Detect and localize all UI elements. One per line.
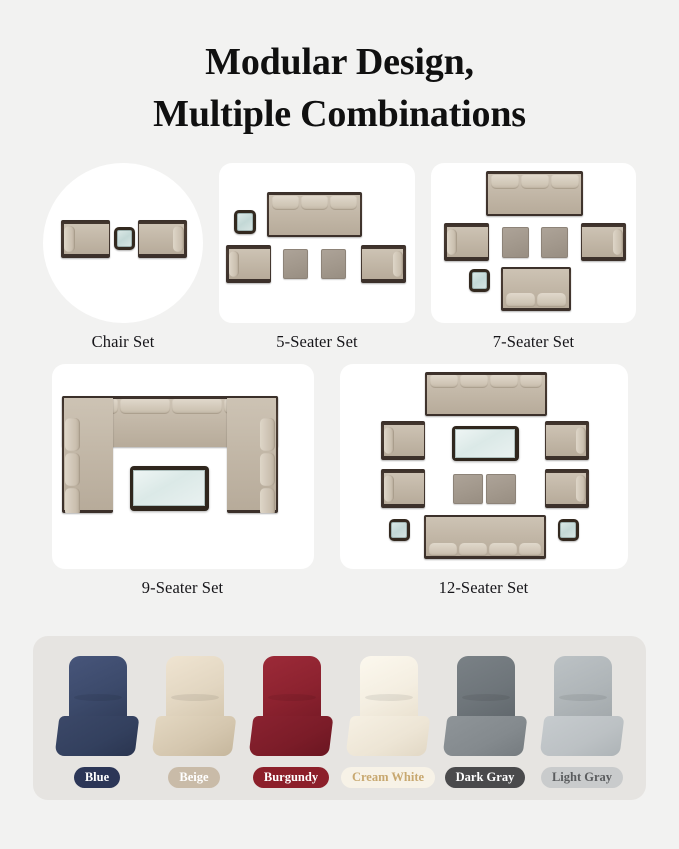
9-seater-layout bbox=[52, 364, 314, 569]
cushion-back bbox=[69, 656, 127, 724]
three-seat-sofa bbox=[267, 192, 362, 237]
cushion-back bbox=[166, 656, 224, 724]
configuration-row-top: Chair Set bbox=[0, 163, 679, 352]
cushion-back bbox=[263, 656, 321, 724]
cushion-illustration bbox=[152, 656, 236, 760]
cushion-back bbox=[457, 656, 515, 724]
color-option-blue[interactable]: Blue bbox=[51, 656, 143, 788]
color-badge-blue: Blue bbox=[74, 767, 120, 788]
configuration-12-seater-set[interactable]: 12-Seater Set bbox=[340, 364, 628, 598]
chair-top-down bbox=[381, 421, 425, 460]
chair-top-down bbox=[444, 223, 489, 261]
color-badge-light-gray: Light Gray bbox=[541, 767, 623, 788]
12-seater-label: 12-Seater Set bbox=[439, 578, 529, 598]
side-table bbox=[234, 210, 256, 234]
configuration-chair-set[interactable]: Chair Set bbox=[43, 163, 203, 352]
chair-top-down bbox=[226, 245, 271, 283]
12-seater-card bbox=[340, 364, 628, 569]
color-option-burgundy[interactable]: Burgundy bbox=[245, 656, 337, 788]
chair-top-down bbox=[61, 220, 110, 258]
chair-top-down bbox=[545, 421, 589, 460]
chair-set-card bbox=[43, 163, 203, 323]
cushion-seat bbox=[55, 716, 140, 756]
color-badge-burgundy: Burgundy bbox=[253, 767, 329, 788]
ottoman bbox=[486, 474, 516, 504]
page-title: Modular Design, Multiple Combinations bbox=[0, 0, 679, 141]
ottoman bbox=[453, 474, 483, 504]
four-seat-sofa bbox=[425, 372, 547, 416]
chair-set-layout bbox=[43, 163, 203, 323]
cushion-illustration bbox=[540, 656, 624, 760]
color-options-panel: Blue Beige Burgundy Cream White bbox=[33, 636, 646, 800]
sectional-left-run bbox=[62, 396, 113, 513]
side-table bbox=[469, 269, 490, 292]
side-table bbox=[558, 519, 579, 541]
glass-coffee-table bbox=[130, 466, 209, 511]
ottoman bbox=[321, 249, 346, 279]
color-option-cream-white[interactable]: Cream White bbox=[342, 656, 434, 788]
page-title-line-2: Multiple Combinations bbox=[0, 88, 679, 140]
cushion-seat bbox=[152, 716, 237, 756]
configuration-7-seater-set[interactable]: 7-Seater Set bbox=[431, 163, 636, 352]
ottoman bbox=[541, 227, 568, 258]
side-table bbox=[114, 227, 135, 250]
configuration-9-seater-set[interactable]: 9-Seater Set bbox=[52, 364, 314, 598]
color-option-beige[interactable]: Beige bbox=[148, 656, 240, 788]
color-badge-beige: Beige bbox=[168, 767, 219, 788]
page-title-line-1: Modular Design, bbox=[0, 36, 679, 88]
5-seater-layout bbox=[219, 163, 415, 323]
cushion-illustration bbox=[346, 656, 430, 760]
cushion-seat bbox=[540, 716, 625, 756]
chair-top-down bbox=[138, 220, 187, 258]
side-table bbox=[389, 519, 410, 541]
9-seater-card bbox=[52, 364, 314, 569]
three-seat-sofa bbox=[486, 171, 583, 216]
cushion-seat bbox=[249, 716, 334, 756]
chair-set-label: Chair Set bbox=[92, 332, 155, 352]
chair-top-down bbox=[361, 245, 406, 283]
cushion-back bbox=[360, 656, 418, 724]
configuration-5-seater-set[interactable]: 5-Seater Set bbox=[219, 163, 415, 352]
cushion-back bbox=[554, 656, 612, 724]
configuration-row-bottom: 9-Seater Set bbox=[0, 364, 679, 598]
12-seater-layout bbox=[340, 364, 628, 569]
7-seater-card bbox=[431, 163, 636, 323]
5-seater-label: 5-Seater Set bbox=[276, 332, 357, 352]
glass-coffee-table bbox=[452, 426, 519, 461]
ottoman bbox=[283, 249, 308, 279]
chair-top-down bbox=[545, 469, 589, 508]
chair-top-down bbox=[581, 223, 626, 261]
cushion-illustration bbox=[443, 656, 527, 760]
7-seater-layout bbox=[431, 163, 636, 323]
cushion-seat bbox=[346, 716, 431, 756]
cushion-illustration bbox=[55, 656, 139, 760]
chair-top-down bbox=[381, 469, 425, 508]
7-seater-label: 7-Seater Set bbox=[493, 332, 574, 352]
color-badge-cream-white: Cream White bbox=[341, 767, 435, 788]
color-options-row: Blue Beige Burgundy Cream White bbox=[33, 636, 646, 800]
cushion-illustration bbox=[249, 656, 333, 760]
ottoman bbox=[502, 227, 529, 258]
color-option-dark-gray[interactable]: Dark Gray bbox=[439, 656, 531, 788]
sectional-right-run bbox=[227, 396, 278, 513]
four-seat-sofa bbox=[424, 515, 546, 559]
color-option-light-gray[interactable]: Light Gray bbox=[536, 656, 628, 788]
color-badge-dark-gray: Dark Gray bbox=[445, 767, 526, 788]
9-seater-label: 9-Seater Set bbox=[142, 578, 223, 598]
loveseat bbox=[501, 267, 571, 311]
cushion-seat bbox=[443, 716, 528, 756]
5-seater-card bbox=[219, 163, 415, 323]
